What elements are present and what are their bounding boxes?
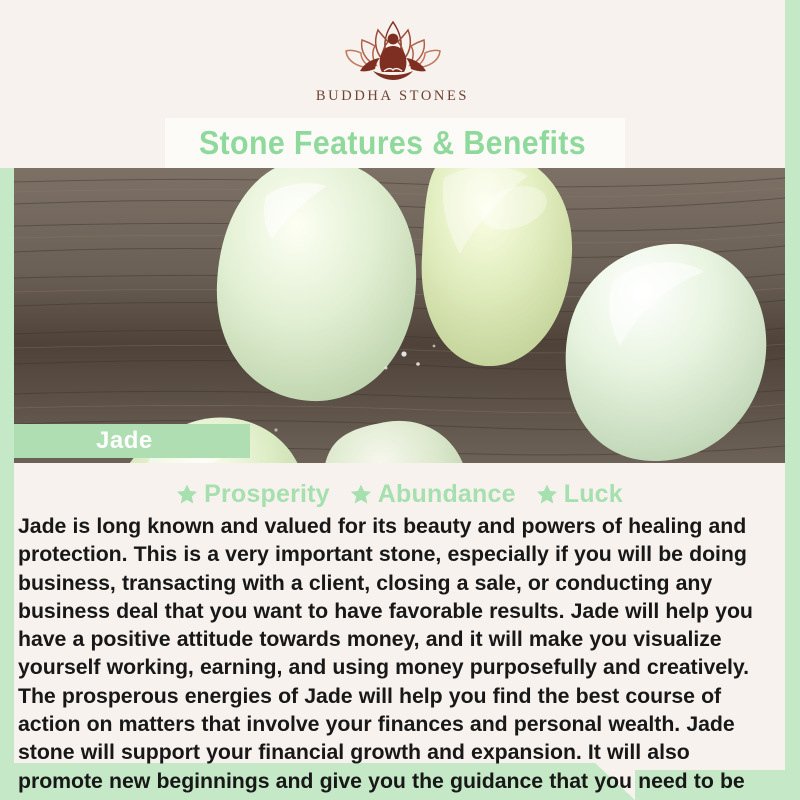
benefit-item-abundance: Abundance <box>350 480 516 509</box>
lotus-meditation-icon <box>318 14 468 86</box>
benefit-item-luck: Luck <box>536 480 623 509</box>
photo-left-green-edge <box>0 168 14 463</box>
stone-info-card: BUDDHA STONES Stone Features & Benefits <box>0 0 800 800</box>
benefit-item-prosperity: Prosperity <box>176 480 330 509</box>
benefits-list: Prosperity Abundance Luck <box>14 478 785 510</box>
stone-description: Jade is long known and valued for its be… <box>18 512 778 800</box>
stone-name-label: Jade <box>96 427 153 455</box>
right-green-accent-bar <box>785 0 800 800</box>
star-icon <box>176 483 198 505</box>
star-icon <box>536 483 558 505</box>
brand-logo: BUDDHA STONES <box>0 14 785 114</box>
page-title: Stone Features & Benefits <box>31 119 753 167</box>
jade-stones-illustration <box>14 168 785 463</box>
star-icon <box>350 483 372 505</box>
benefit-label: Prosperity <box>204 480 330 509</box>
benefit-label: Luck <box>564 480 623 509</box>
jade-stones-photo <box>14 168 785 463</box>
brand-name: BUDDHA STONES <box>316 88 469 105</box>
left-green-accent-bar <box>0 460 14 770</box>
benefit-label: Abundance <box>378 480 516 509</box>
stone-name-band: Jade <box>14 424 250 458</box>
